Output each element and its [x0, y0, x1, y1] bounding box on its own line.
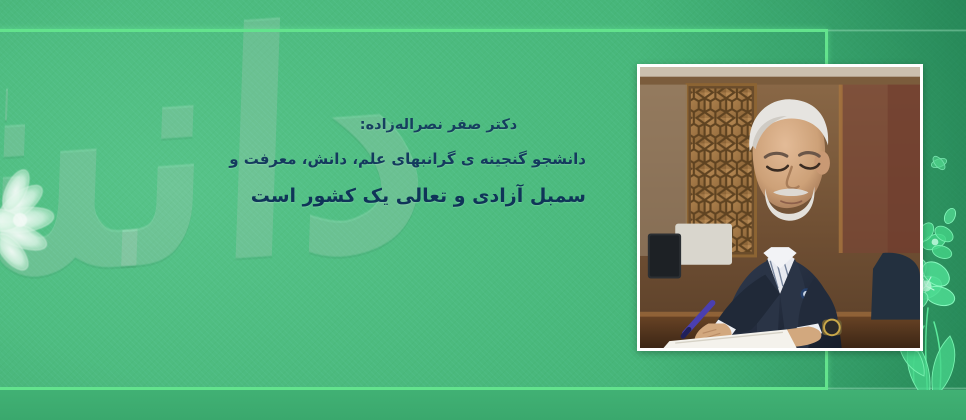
- quote-line-2: سمبل آزادی و تعالی یک کشور است: [291, 179, 586, 213]
- portrait-illustration: [640, 67, 920, 348]
- quote-block: دکتر صفر نصراله‌زاده: دانشجو گنجینه ی گر…: [291, 112, 586, 213]
- portrait-photo: [637, 64, 923, 351]
- green-floral-accent-icon: [926, 150, 952, 176]
- quote-line-1: دانشجو گنجینه ی گرانبهای علم، دانش، معرف…: [291, 144, 586, 175]
- bottom-strip: [0, 390, 966, 420]
- quote-attribution: دکتر صفر نصراله‌زاده:: [291, 112, 586, 138]
- white-flower-icon: [0, 160, 86, 280]
- news-banner: دانشجو: [0, 0, 966, 420]
